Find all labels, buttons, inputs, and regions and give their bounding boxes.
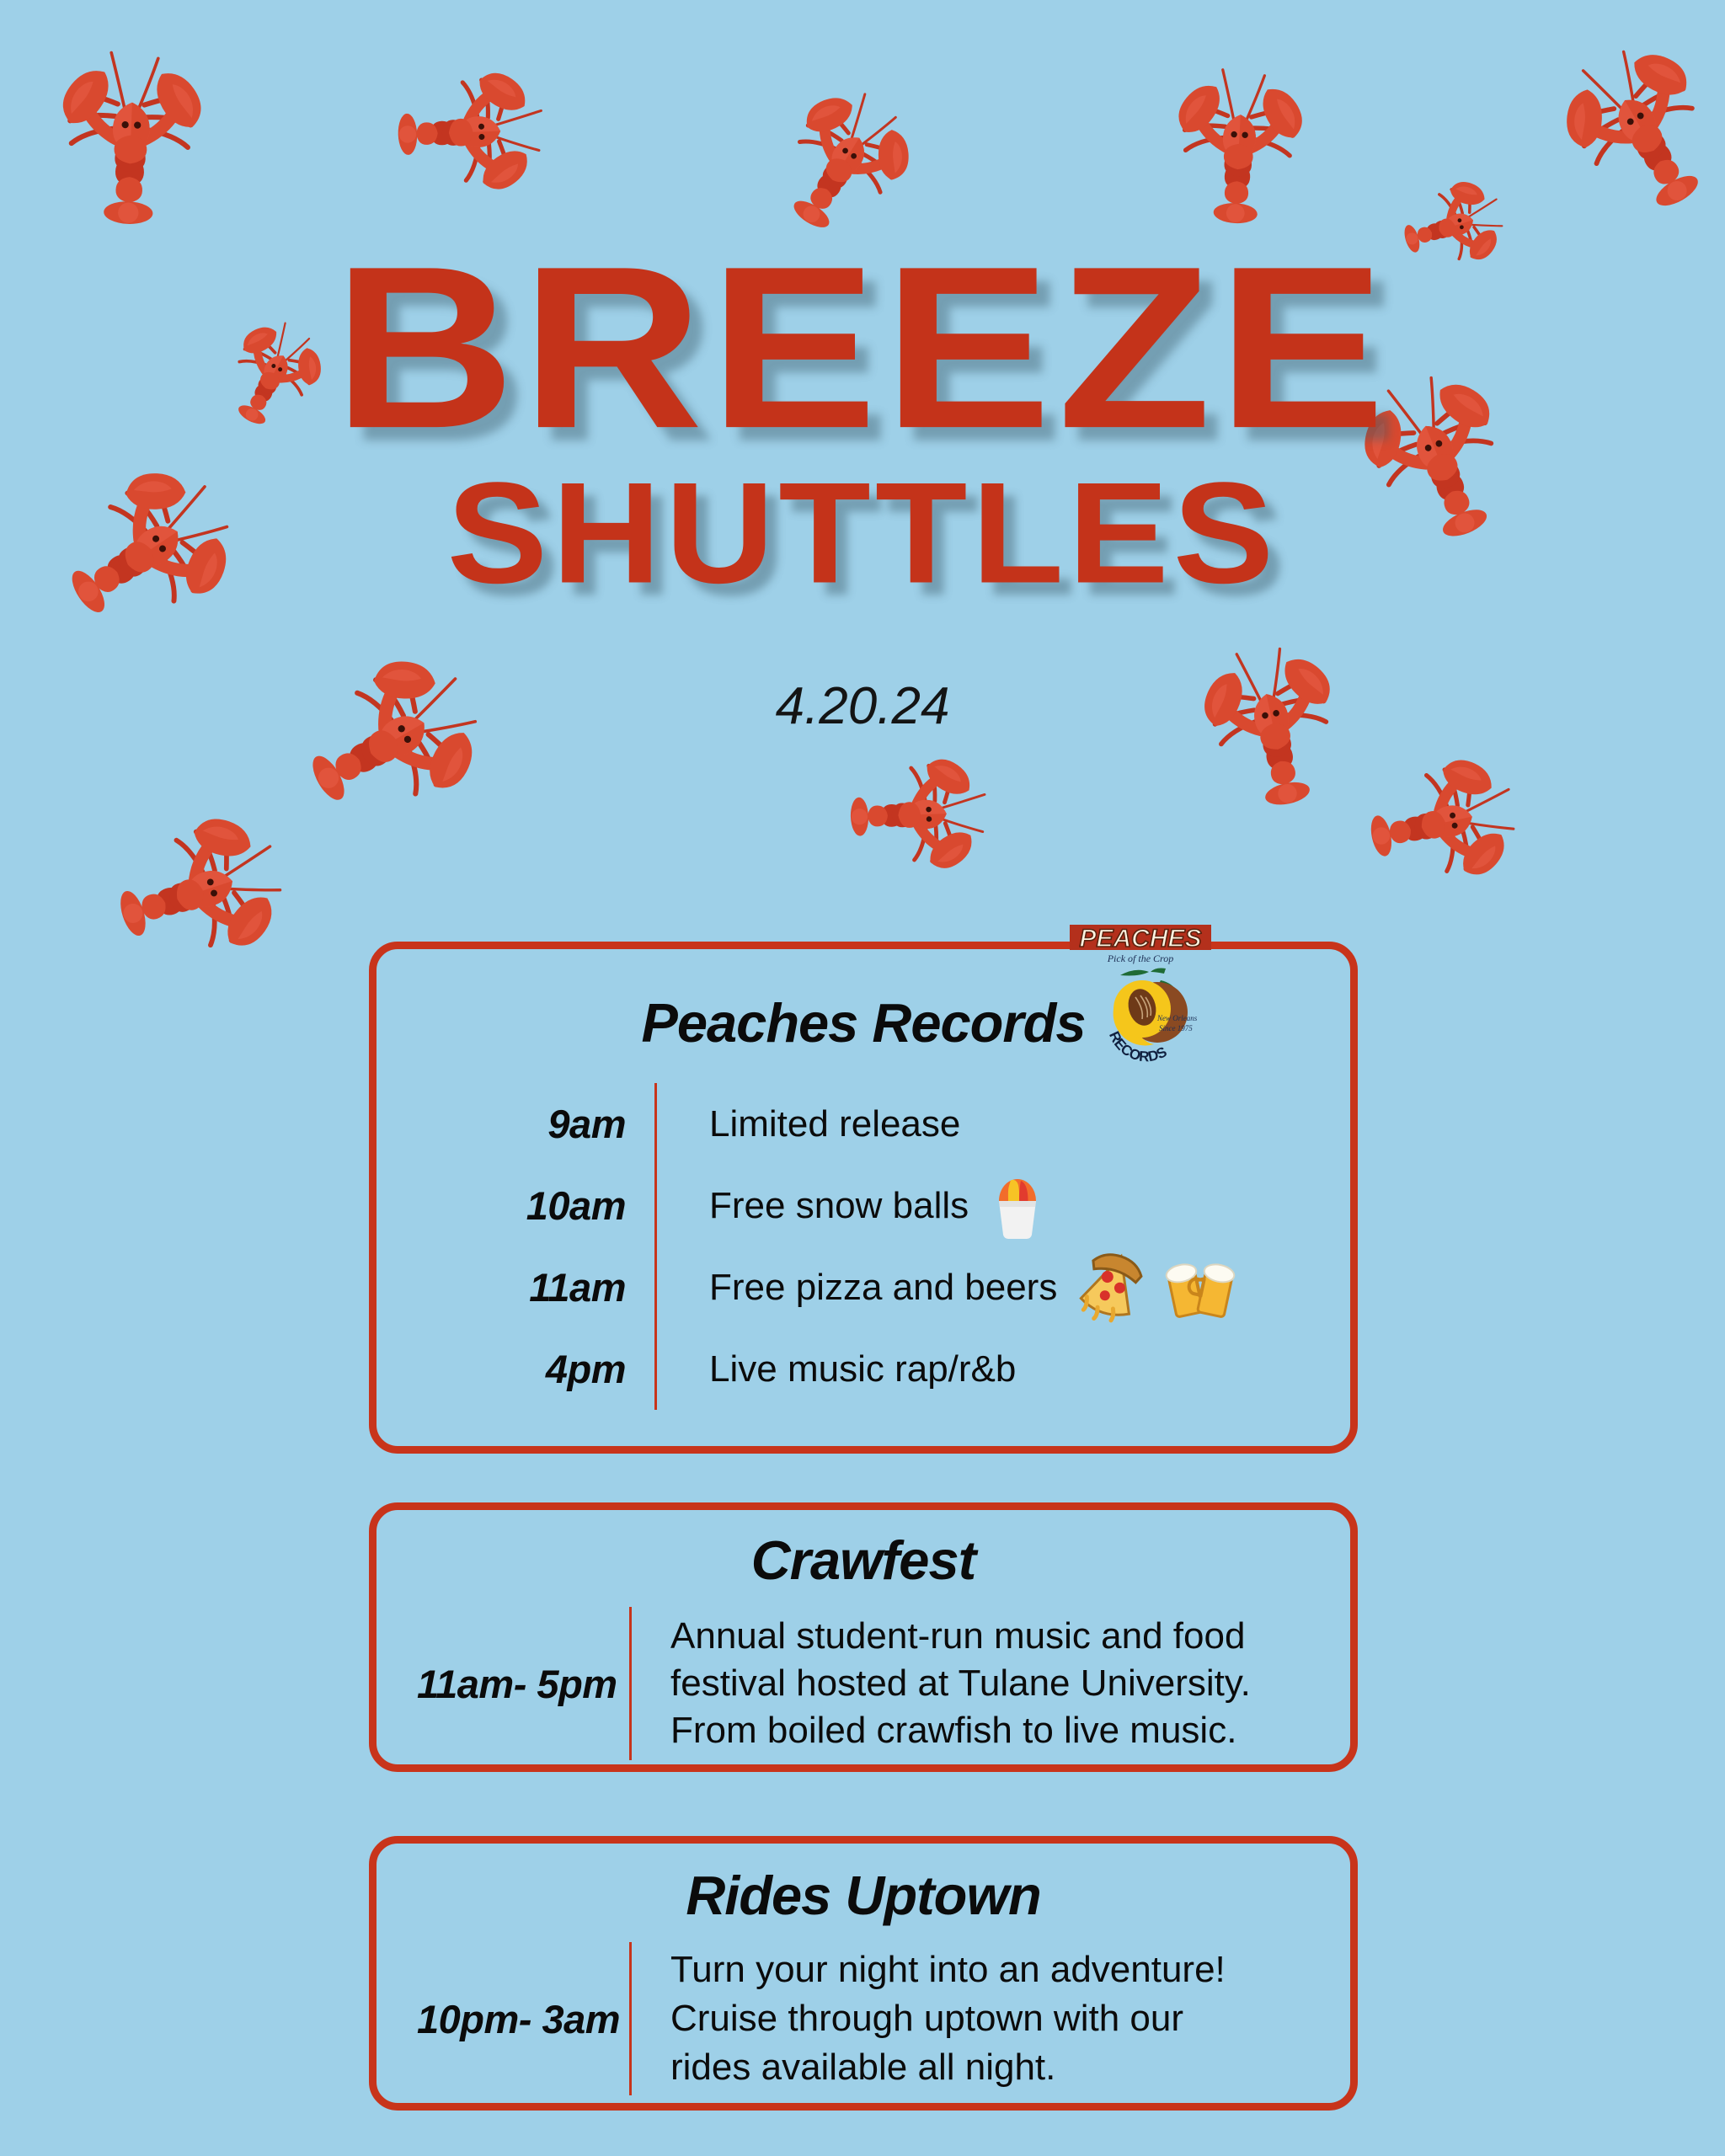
- schedule-description: Limited release: [709, 1103, 960, 1145]
- schedule-row: 10am Free snow balls: [377, 1165, 1350, 1246]
- schedule-list-peaches: 9am Limited release 10am Free snow balls: [377, 1083, 1350, 1410]
- logo-since-text: Since 1975: [1159, 1024, 1193, 1033]
- logo-city-text: New Orleans: [1156, 1014, 1198, 1022]
- schedule-description: Free pizza and beers: [709, 1267, 1057, 1309]
- lobster-icon: [393, 60, 578, 204]
- logo-brand-text: PEACHES: [1079, 925, 1201, 953]
- event-date: 4.20.24: [0, 676, 1725, 736]
- description-line: Turn your night into an adventure!: [670, 1945, 1226, 1994]
- schedule-description: Free snow balls: [709, 1185, 969, 1227]
- lobster-icon: [1355, 734, 1561, 906]
- card-rides-uptown: Rides Uptown 10pm- 3am Turn your night i…: [369, 1836, 1358, 2111]
- crawfest-time: 11am- 5pm: [377, 1661, 629, 1707]
- schedule-time: 4pm: [377, 1346, 654, 1392]
- rides-time: 10pm- 3am: [377, 1996, 629, 2042]
- schedule-description-wrap: Live music rap/r&b: [657, 1348, 1016, 1390]
- description-line: rides available all night.: [670, 2043, 1226, 2092]
- lobster-icon: [846, 746, 1020, 881]
- schedule-time: 10am: [377, 1182, 654, 1229]
- card-title-crawfest: Crawfest: [377, 1510, 1350, 1592]
- page-subtitle: SHUTTLES: [0, 462, 1725, 606]
- description-line: festival hosted at Tulane University.: [670, 1660, 1251, 1707]
- rides-description: Turn your night into an adventure! Cruis…: [632, 1945, 1226, 2092]
- lobster-icon: [46, 11, 217, 230]
- schedule-description-wrap: Limited release: [657, 1103, 960, 1145]
- crawfest-description: Annual student-run music and food festiv…: [632, 1613, 1251, 1755]
- title-block: BREEZE SHUTTLES 4.20.24: [0, 253, 1725, 736]
- description-line: From boiled crawfish to live music.: [670, 1707, 1251, 1754]
- crawfest-row: 11am- 5pm Annual student-run music and f…: [377, 1607, 1350, 1760]
- lobster-icon: [96, 781, 337, 990]
- page-title: BREEZE: [0, 241, 1725, 453]
- pizza-icon: [1079, 1251, 1143, 1324]
- card-crawfest: Crawfest 11am- 5pm Annual student-run mu…: [369, 1502, 1358, 1772]
- lobster-icon: [1515, 0, 1725, 242]
- description-line: Cruise through uptown with our: [670, 1994, 1226, 2043]
- beers-icon: [1165, 1254, 1236, 1321]
- schedule-row: 9am Limited release: [377, 1083, 1350, 1165]
- schedule-row: 4pm Live music rap/r&b: [377, 1328, 1350, 1410]
- peaches-records-logo: PEACHES Pick of the Crop New Orleans Sin…: [1070, 920, 1211, 1070]
- schedule-row: 11am Free pizza and beers: [377, 1246, 1350, 1328]
- rides-row: 10pm- 3am Turn your night into an advent…: [377, 1942, 1350, 2095]
- description-line: Annual student-run music and food: [670, 1613, 1251, 1660]
- lobster-icon: [1162, 31, 1317, 230]
- schedule-description-wrap: Free pizza and beers: [657, 1251, 1236, 1324]
- schedule-description: Live music rap/r&b: [709, 1348, 1016, 1390]
- logo-tagline-text: Pick of the Crop: [1107, 953, 1174, 964]
- poster-canvas: BREEZE SHUTTLES 4.20.24 Peaches Records …: [0, 0, 1725, 2156]
- snow-ball-icon: [991, 1172, 1044, 1240]
- schedule-description-wrap: Free snow balls: [657, 1172, 1044, 1240]
- schedule-time: 9am: [377, 1101, 654, 1147]
- schedule-time: 11am: [377, 1264, 654, 1310]
- card-title-rides: Rides Uptown: [377, 1844, 1350, 1927]
